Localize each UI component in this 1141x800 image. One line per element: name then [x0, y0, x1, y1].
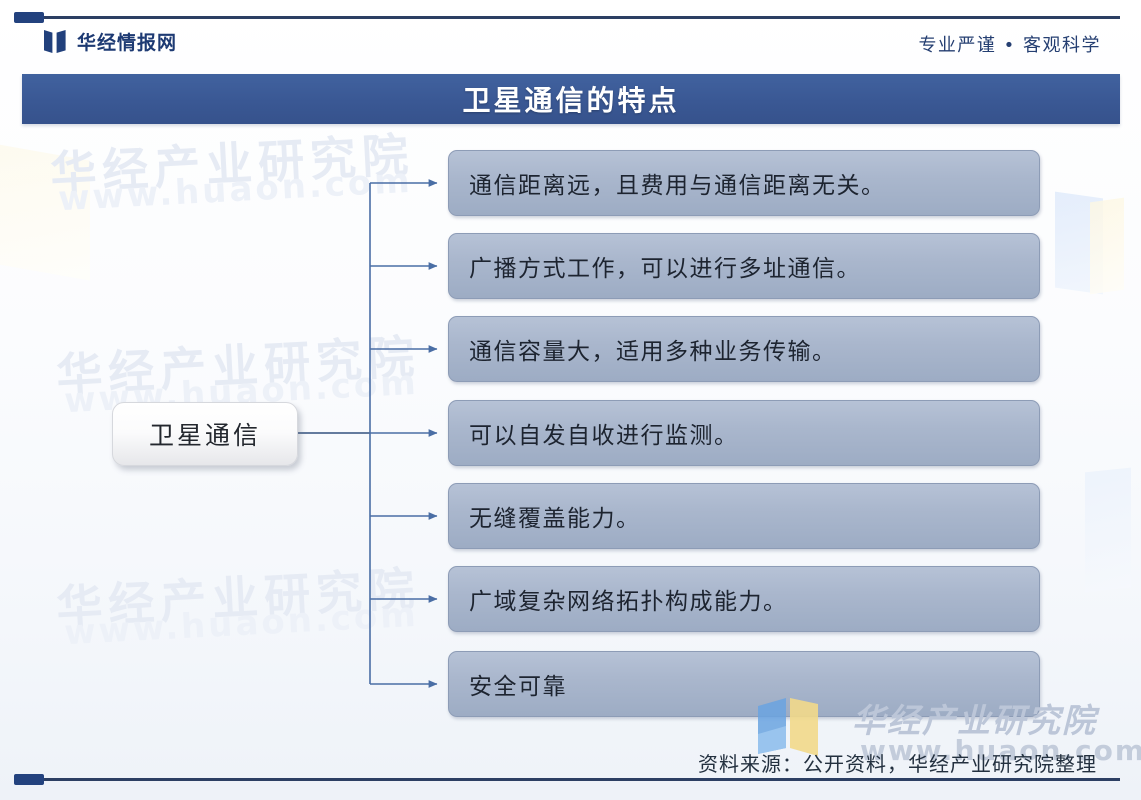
background-watermark: www.huaon.com [57, 161, 413, 220]
decorative-polygon-blue [1055, 192, 1103, 295]
feature-box-label: 无缝覆盖能力。 [469, 499, 641, 533]
background-watermark: 华经产业研究院 [55, 321, 422, 406]
feature-box[interactable]: 可以自发自收进行监测。 [448, 400, 1040, 466]
feature-box-label: 通信距离远，且费用与通信距离无关。 [469, 166, 886, 200]
feature-box-label: 广域复杂网络拓扑构成能力。 [469, 582, 788, 616]
rule-end-nub [14, 774, 44, 785]
decorative-polygon-blue-lower [1085, 468, 1131, 593]
header-tagline: 专业严谨 • 客观科学 [918, 31, 1101, 57]
background-watermark: www.huaon.com [63, 595, 419, 654]
header: 华经情报网 专业严谨 • 客观科学 [0, 24, 1141, 72]
feature-box[interactable]: 通信距离远，且费用与通信距离无关。 [448, 150, 1040, 216]
brand-logo: 华经情报网 [44, 28, 177, 55]
feature-box[interactable]: 安全可靠 [448, 651, 1040, 717]
title-band: 卫星通信的特点 [22, 74, 1120, 124]
feature-box-label: 广播方式工作，可以进行多址通信。 [469, 249, 861, 283]
feature-box-label: 安全可靠 [469, 667, 567, 701]
slide-canvas: 华经产业研究院 www.huaon.com 华经产业研究院 www.huaon.… [0, 0, 1141, 800]
rule-end-nub [14, 12, 44, 23]
root-node[interactable]: 卫星通信 [112, 402, 298, 466]
root-node-label: 卫星通信 [149, 416, 261, 452]
decorative-polygon-cream [0, 139, 90, 280]
feature-box[interactable]: 无缝覆盖能力。 [448, 483, 1040, 549]
bottom-divider-rule [22, 778, 1120, 781]
decorative-polygon-yellow [1090, 198, 1124, 295]
feature-box[interactable]: 通信容量大，适用多种业务传输。 [448, 316, 1040, 382]
feature-box[interactable]: 广域复杂网络拓扑构成能力。 [448, 566, 1040, 632]
feature-box-label: 通信容量大，适用多种业务传输。 [469, 332, 837, 366]
top-divider-rule [22, 16, 1120, 19]
brand-name: 华经情报网 [77, 28, 177, 55]
feature-box-label: 可以自发自收进行监测。 [469, 416, 739, 450]
background-watermark: 华经产业研究院 [49, 119, 416, 204]
feature-box[interactable]: 广播方式工作，可以进行多址通信。 [448, 233, 1040, 299]
page-title: 卫星通信的特点 [462, 79, 679, 119]
book-mark-icon [44, 29, 66, 54]
background-watermark: 华经产业研究院 [55, 553, 422, 638]
source-note: 资料来源：公开资料，华经产业研究院整理 [698, 748, 1097, 777]
